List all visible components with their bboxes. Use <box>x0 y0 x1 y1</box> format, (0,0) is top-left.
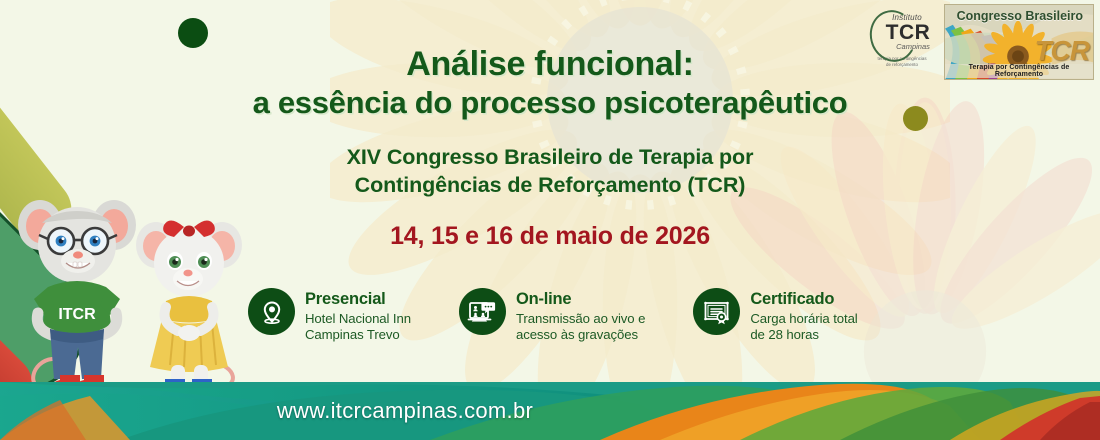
feature-item-certificado: Certificado Carga horária total de 28 ho… <box>693 288 857 343</box>
feature-description: Transmissão ao vivo e acesso às gravaçõe… <box>516 311 645 343</box>
event-banner: Instituto TCR Campinas terapia por conti… <box>0 0 1100 440</box>
itcr-institute-logo: Instituto TCR Campinas terapia por conti… <box>866 4 938 78</box>
feature-text-certificado: Certificado Carga horária total de 28 ho… <box>750 288 857 343</box>
feature-desc-line2: acesso às gravações <box>516 327 645 343</box>
logo-group: Instituto TCR Campinas terapia por conti… <box>866 4 1094 80</box>
feature-desc-line1: Hotel Nacional Inn <box>305 311 411 327</box>
feature-item-presencial: Presencial Hotel Nacional Inn Campinas T… <box>248 288 411 343</box>
map-pin-icon <box>248 288 295 335</box>
congress-logo-acronym: TCR <box>1034 35 1089 67</box>
banner-subtitle: XIV Congresso Brasileiro de Terapia por … <box>0 143 1100 200</box>
feature-desc-line1: Carga horária total <box>750 311 857 327</box>
feature-item-online: On-line Transmissão ao vivo e acesso às … <box>459 288 645 343</box>
feature-description: Carga horária total de 28 horas <box>750 311 857 343</box>
congress-logo-subtitle: Terapia por Contingências de Reforçament… <box>945 64 1093 78</box>
congress-logo-title: Congresso Brasileiro <box>945 9 1089 23</box>
video-call-icon <box>459 288 506 335</box>
certificate-icon <box>693 288 740 335</box>
feature-title: Presencial <box>305 290 411 309</box>
feature-desc-line1: Transmissão ao vivo e <box>516 311 645 327</box>
feature-desc-line2: de 28 horas <box>750 327 857 343</box>
feature-list: Presencial Hotel Nacional Inn Campinas T… <box>248 288 858 343</box>
event-date: 14, 15 e 16 de maio de 2026 <box>0 222 1100 251</box>
feature-text-online: On-line Transmissão ao vivo e acesso às … <box>516 288 645 343</box>
title-line-2: a essência do processo psicoterapêutico <box>0 84 1100 121</box>
congress-logo: Congresso Brasileiro TCR Terapia por Con… <box>944 4 1094 80</box>
subtitle-line-1: XIV Congresso Brasileiro de Terapia por <box>0 143 1100 171</box>
feature-description: Hotel Nacional Inn Campinas Trevo <box>305 311 411 343</box>
feature-desc-line2: Campinas Trevo <box>305 327 411 343</box>
mascot-shirt-text: ITCR <box>58 306 96 323</box>
website-url-text: www.itcrcampinas.com.br <box>277 398 533 424</box>
subtitle-line-2: Contingências de Reforçamento (TCR) <box>0 171 1100 199</box>
feature-title: On-line <box>516 290 645 309</box>
feature-text-presencial: Presencial Hotel Nacional Inn Campinas T… <box>305 288 411 343</box>
itcr-tagline-line2: de reforçamento <box>886 62 918 67</box>
feature-title: Certificado <box>750 290 857 309</box>
website-url[interactable]: www.itcrcampinas.com.br <box>0 382 1100 440</box>
